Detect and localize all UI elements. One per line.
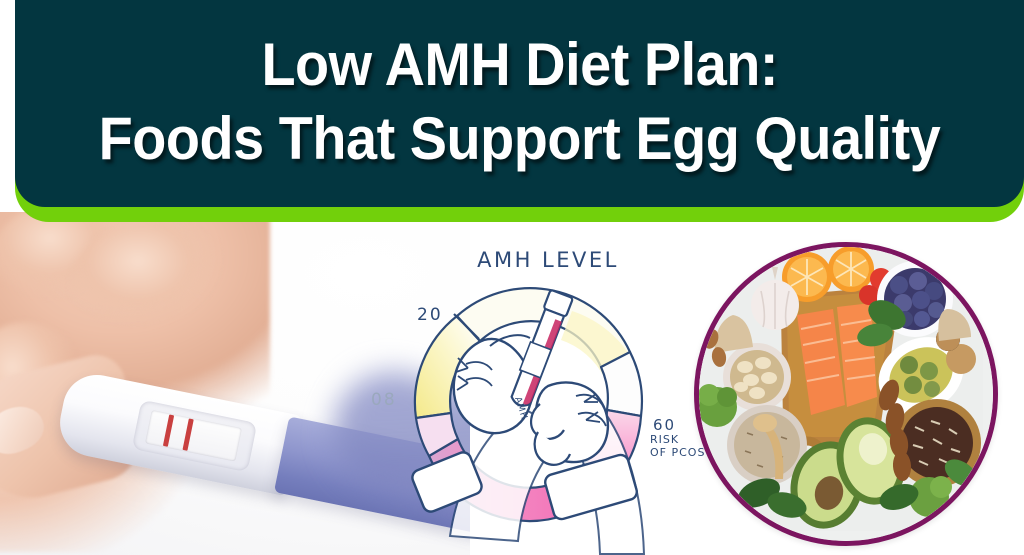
food-photo-svg xyxy=(699,247,983,531)
dial-label-risk-note: RISK OF PCOS xyxy=(650,434,705,459)
poster-header: Low AMH Diet Plan: Foods That Support Eg… xyxy=(15,0,1024,222)
amh-dial-svg: AMH xyxy=(372,236,712,555)
risk-note-line-2: OF PCOS xyxy=(650,447,705,460)
page-title-line-2: Foods That Support Egg Quality xyxy=(99,108,941,169)
amh-level-dial-illustration: AMH AMH LEVEL 20 08 60 RISK OF PCOS xyxy=(372,236,712,555)
broccoli-floret xyxy=(699,384,720,406)
page-title-line-1: Low AMH Diet Plan: xyxy=(261,34,778,95)
healthy-foods-photo xyxy=(694,242,998,546)
knuckle-shape xyxy=(70,222,240,352)
vial-label xyxy=(520,342,551,378)
broccoli-floret xyxy=(717,387,737,407)
risk-note-line-1: RISK xyxy=(650,434,705,447)
broccoli-floret xyxy=(930,476,952,498)
wooden-scoop-head xyxy=(753,414,777,432)
dial-label-60: 60 xyxy=(653,416,676,434)
header-card: Low AMH Diet Plan: Foods That Support Eg… xyxy=(15,0,1024,207)
food-photo-inner xyxy=(699,247,993,541)
dial-caption: AMH LEVEL xyxy=(458,248,638,272)
poster-canvas: AMH AMH LEVEL 20 08 60 RISK OF PCOS xyxy=(0,0,1024,555)
dial-label-08: 08 xyxy=(371,390,397,410)
dial-label-20: 20 xyxy=(417,305,443,325)
